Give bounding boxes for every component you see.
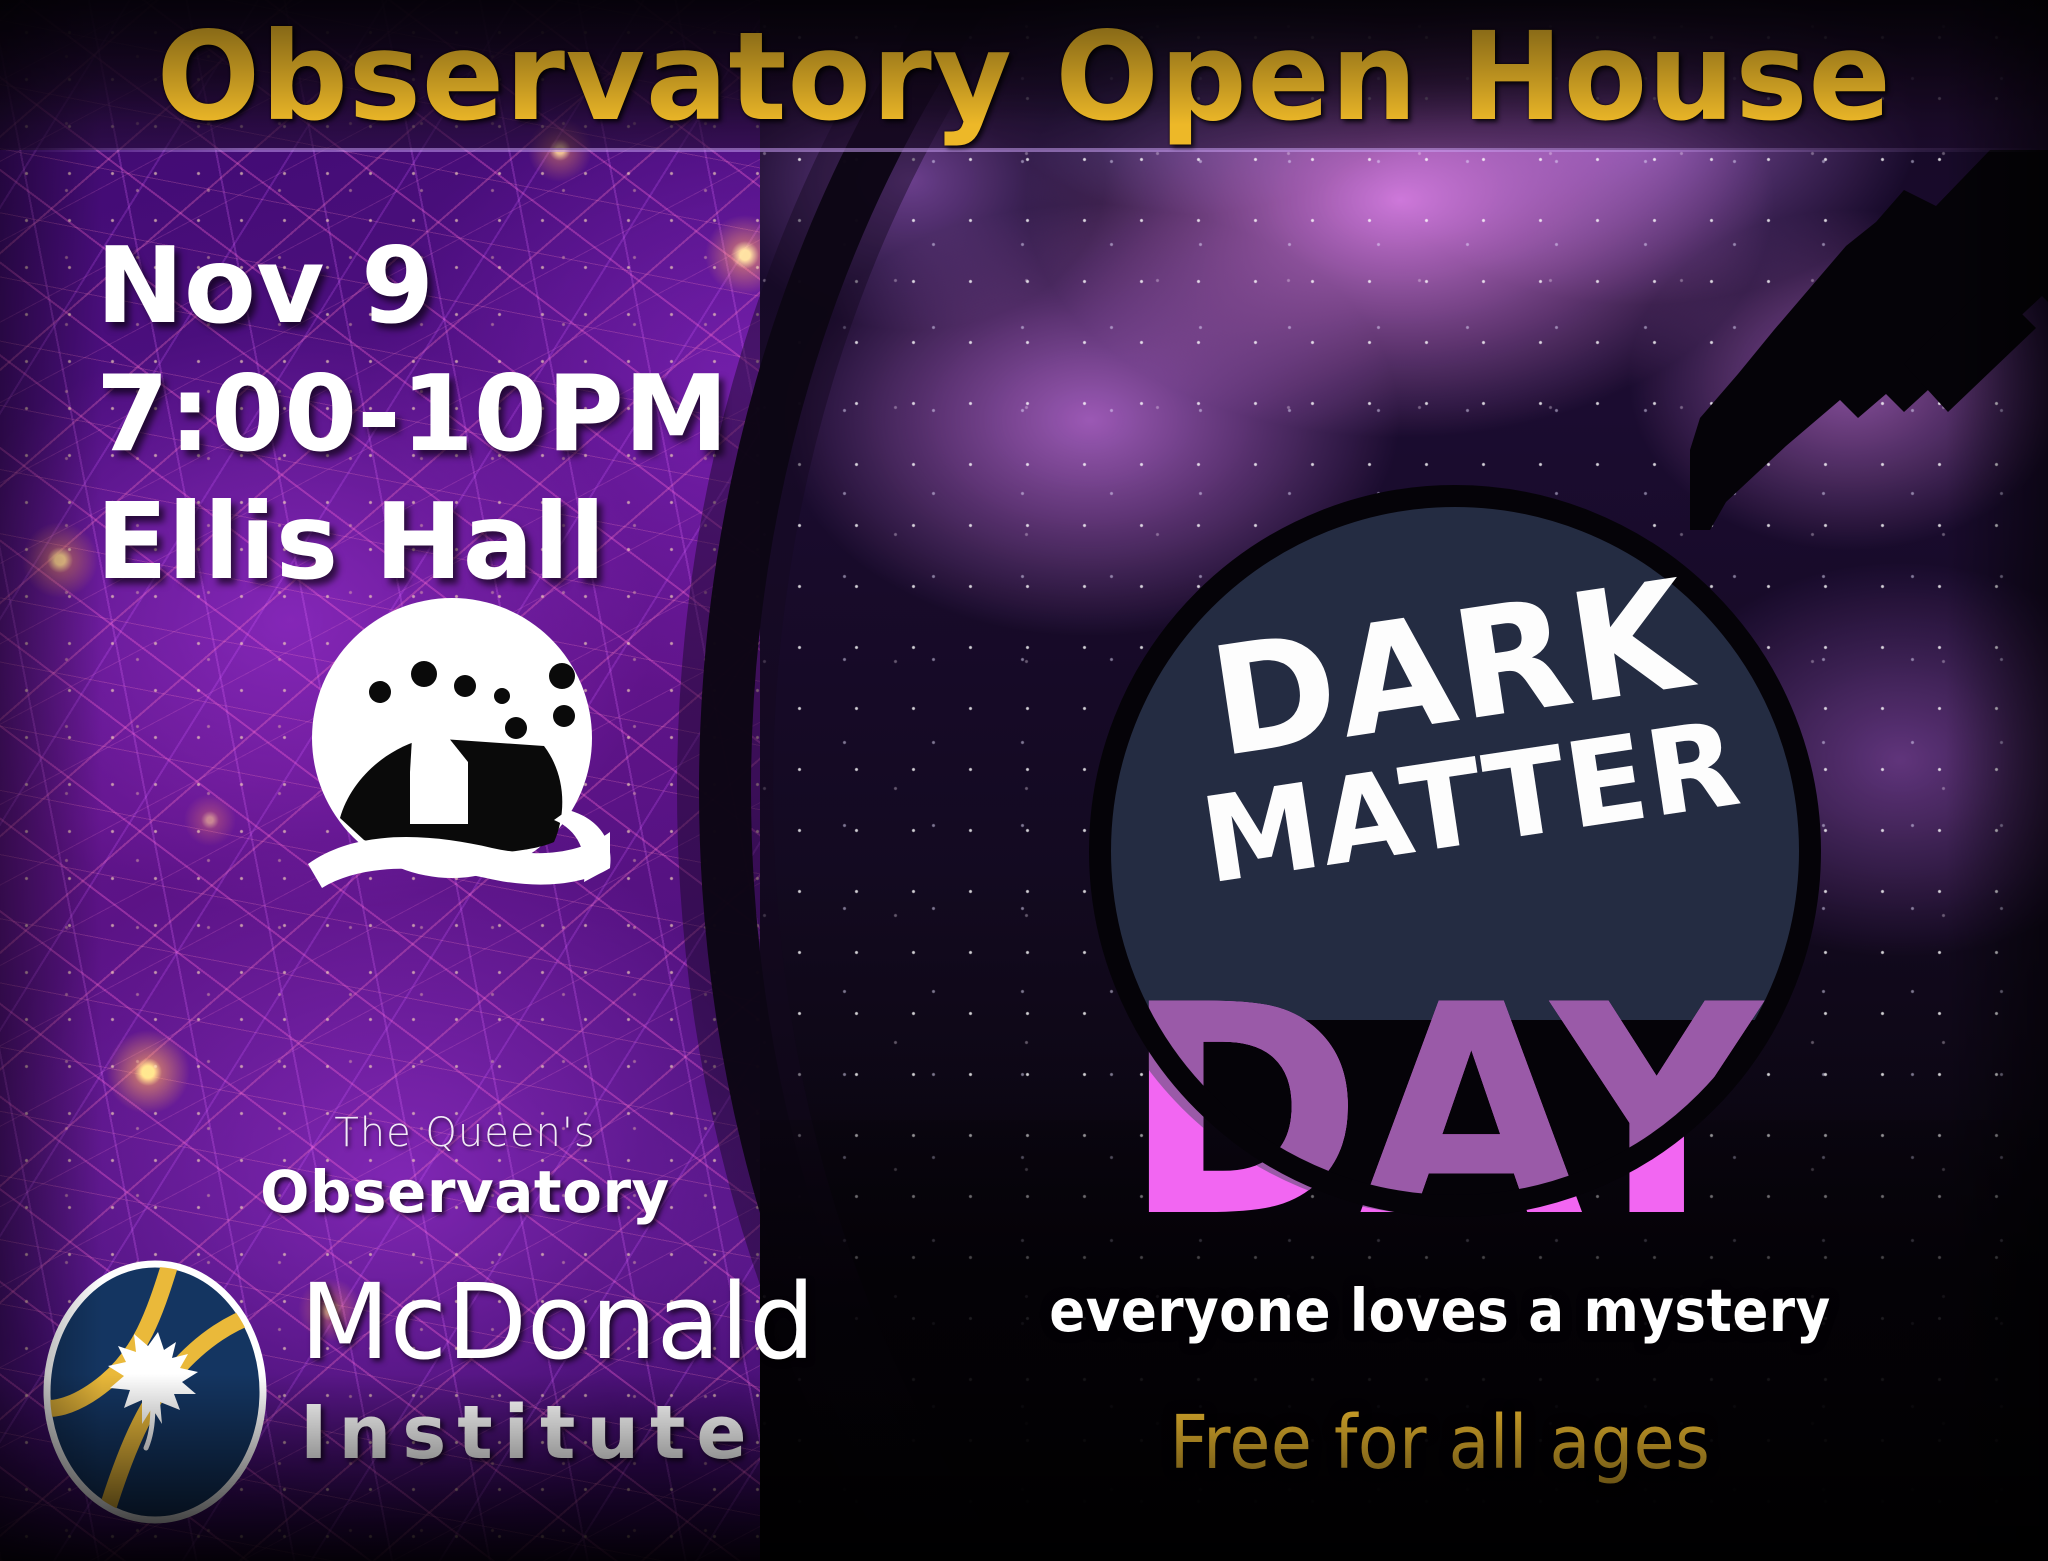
mcdonald-institute-wordmark: McDonald Institute (300, 1270, 940, 1476)
mcdonald-institute-crest-icon (42, 1258, 268, 1526)
mcdonald-institute-line2: Institute (300, 1390, 940, 1476)
magnifier-lens-circle (1090, 486, 1820, 1216)
event-time: 7:00-10PM (96, 350, 796, 478)
title-band-divider (0, 148, 2048, 152)
admission-note: Free for all ages (1020, 1400, 1860, 1486)
mcdonald-institute-line1: McDonald (300, 1270, 940, 1374)
event-date: Nov 9 (96, 222, 796, 350)
queens-observatory-wordmark: The Queen's Observatory (250, 1110, 680, 1226)
queens-observatory-line2: Observatory (250, 1158, 680, 1226)
observatory-dome-icon (292, 596, 622, 896)
dark-matter-day-tagline: everyone loves a mystery (1020, 1276, 1860, 1345)
page-title: Observatory Open House (0, 6, 2048, 148)
event-venue: Ellis Hall (96, 478, 796, 606)
queens-observatory-line1: The Queen's (250, 1110, 680, 1156)
event-details: Nov 9 7:00-10PM Ellis Hall (96, 222, 796, 606)
poster-canvas: DAY DAY DARK MATTER everyone loves a mys… (0, 0, 2048, 1561)
